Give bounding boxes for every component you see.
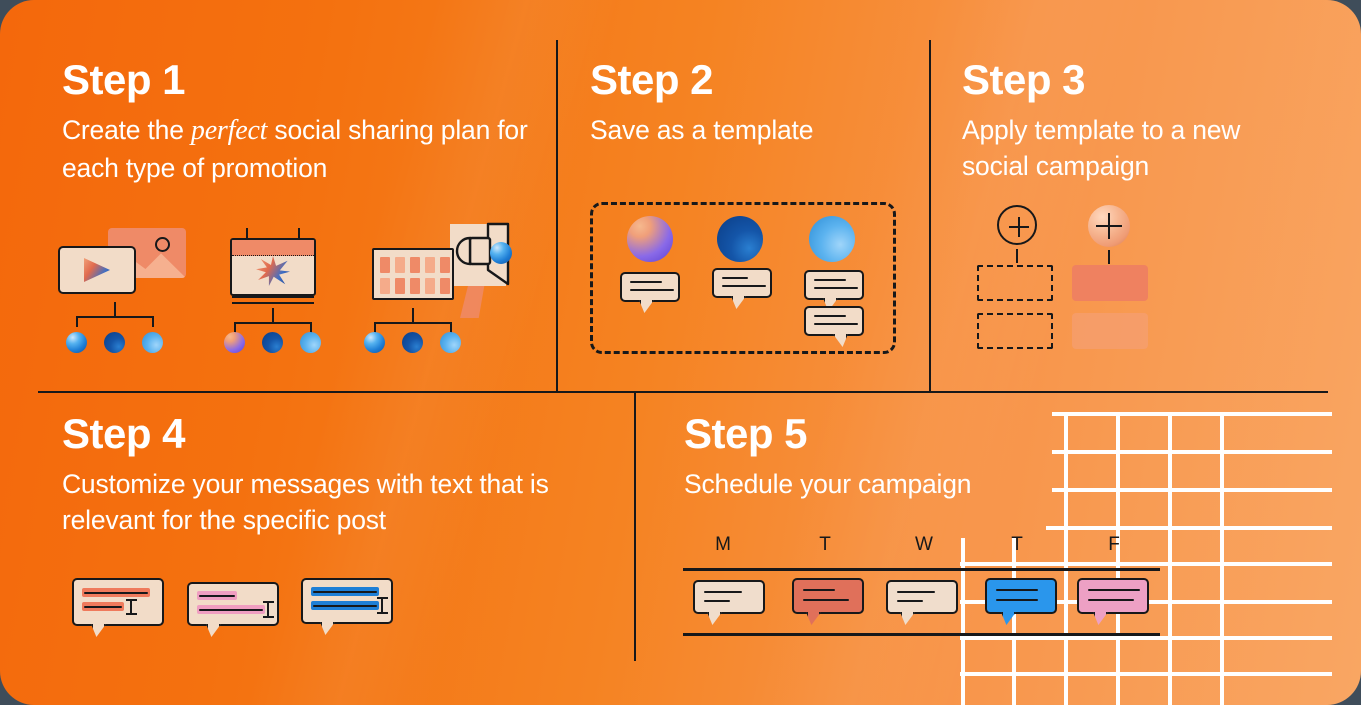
panel-step-5: Step 5 Schedule your campaign (684, 412, 1124, 502)
scheduled-post-tuesday[interactable] (792, 578, 864, 614)
day-label-monday: M (700, 534, 746, 556)
step-5-title: Step 5 (684, 412, 1124, 456)
template-bubble-1 (620, 272, 680, 302)
plus-sphere-peach-icon (1088, 205, 1130, 247)
divider-horizontal-top-bottom (38, 391, 1328, 393)
board-cell (440, 257, 450, 273)
divider-vertical-step2-step3 (929, 40, 931, 392)
infographic-card: Step 1 Create the perfect social sharing… (0, 0, 1361, 705)
board-cell (425, 257, 435, 273)
channel-sphere-1c (142, 332, 163, 353)
step-5-description: Schedule your campaign (684, 466, 1124, 502)
scheduled-post-thursday[interactable] (985, 578, 1057, 614)
bracket-connector-3 (374, 308, 452, 334)
board-cell (395, 278, 405, 294)
panel-step-4: Step 4 Customize your messages with text… (62, 412, 602, 538)
board-cell (410, 278, 420, 294)
calendar-stack-line-1 (232, 296, 314, 298)
filled-campaign-slot-1 (1072, 265, 1148, 301)
channel-sphere-2a (224, 332, 245, 353)
day-label-friday: F (1091, 534, 1137, 556)
channel-sphere-3a (364, 332, 385, 353)
board-cell (425, 278, 435, 294)
message-bubble-2[interactable] (187, 582, 279, 626)
step-3-title: Step 3 (962, 58, 1292, 102)
divider-vertical-step1-step2 (556, 40, 558, 392)
day-label-thursday: T (994, 534, 1040, 556)
message-bubble-3[interactable] (301, 578, 393, 624)
board-cell (440, 278, 450, 294)
step-2-title: Step 2 (590, 58, 920, 102)
content-board (372, 248, 454, 300)
step-1-title: Step 1 (62, 58, 542, 102)
calendar-header (232, 240, 314, 256)
template-sphere-1 (627, 216, 673, 262)
day-label-tuesday: T (802, 534, 848, 556)
channel-sphere-2b (262, 332, 283, 353)
step-2-description: Save as a template (590, 112, 920, 148)
bracket-connector-2 (234, 308, 312, 334)
step-1-group-board-megaphone (372, 224, 542, 364)
template-sphere-3 (809, 216, 855, 262)
filled-campaign-slot-2 (1072, 313, 1148, 349)
board-cell (395, 257, 405, 273)
empty-slot-stem (1016, 249, 1018, 263)
channel-sphere-2c (300, 332, 321, 353)
step-3-description: Apply template to a new social campaign (962, 112, 1282, 184)
empty-campaign-slot-1 (977, 265, 1053, 301)
template-bubble-3b (804, 306, 864, 336)
divider-vertical-step4-step5 (634, 393, 636, 661)
panel-step-1: Step 1 Create the perfect social sharing… (62, 58, 542, 186)
template-sphere-2 (717, 216, 763, 262)
timeline-rule-top (683, 568, 1160, 571)
day-label-wednesday: W (901, 534, 947, 556)
panel-step-2: Step 2 Save as a template (590, 58, 920, 148)
board-cell (380, 257, 390, 273)
step-4-title: Step 4 (62, 412, 602, 456)
megaphone-sphere (490, 242, 512, 264)
step-1-group-video-image (58, 228, 218, 358)
channel-sphere-1b (104, 332, 125, 353)
template-bubble-3a (804, 270, 864, 300)
scheduled-post-wednesday[interactable] (886, 580, 958, 614)
image-card-sun-icon (155, 237, 170, 252)
channel-sphere-3b (402, 332, 423, 353)
step-1-desc-before: Create the (62, 115, 191, 145)
step-4-description: Customize your messages with text that i… (62, 466, 592, 538)
channel-sphere-1a (66, 332, 87, 353)
step-1-description: Create the perfect social sharing plan f… (62, 112, 542, 186)
step-1-desc-emphasis: perfect (191, 115, 267, 146)
scheduled-post-monday[interactable] (693, 580, 765, 614)
filled-slot-stem (1108, 250, 1110, 264)
channel-sphere-3c (440, 332, 461, 353)
bracket-connector-1 (76, 302, 154, 328)
empty-campaign-slot-2 (977, 313, 1053, 349)
template-bubble-2 (712, 268, 772, 298)
board-cell (410, 257, 420, 273)
message-bubble-1[interactable] (72, 578, 164, 626)
timeline-rule-bottom (683, 633, 1160, 636)
plus-circle-outline-icon (997, 205, 1037, 245)
calendar-stack-line-2 (232, 302, 314, 304)
scheduled-post-friday[interactable] (1077, 578, 1149, 614)
panel-step-3: Step 3 Apply template to a new social ca… (962, 58, 1292, 184)
board-cell (380, 278, 390, 294)
